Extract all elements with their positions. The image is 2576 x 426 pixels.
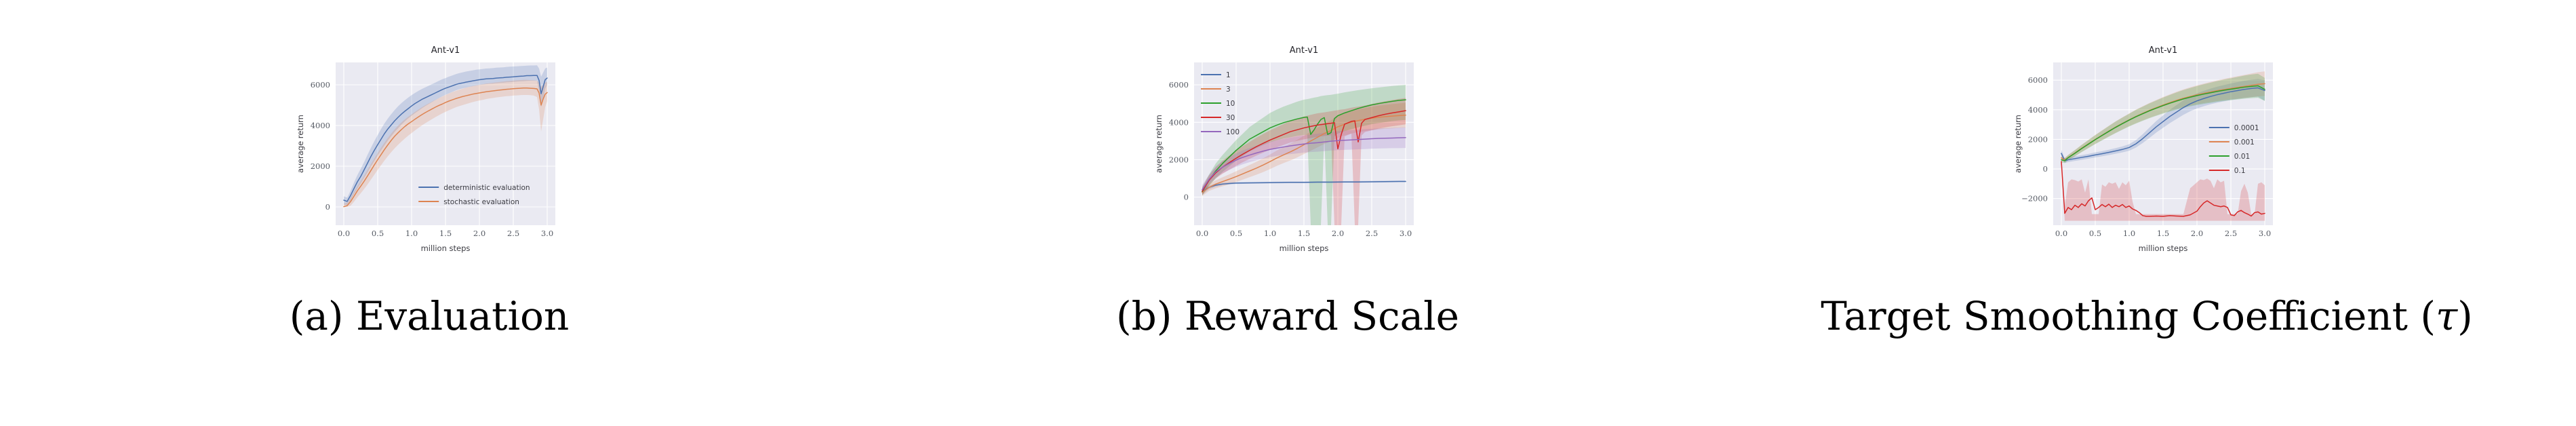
chart-title: Ant-v1 (431, 45, 460, 56)
x-tick-label: 3.0 (541, 229, 553, 238)
caption-b: (b) Reward Scale (858, 296, 1717, 337)
chart-holder-b: Ant-v10.00.51.01.52.02.53.00200040006000… (858, 41, 1717, 265)
x-tick-label: 1.0 (2123, 229, 2135, 238)
x-axis-label: million steps (1280, 244, 1329, 253)
caption-a: (a) Evaluation (0, 296, 858, 337)
y-tick-label: 0 (325, 202, 330, 212)
x-tick-label: 0.5 (2089, 229, 2101, 238)
figure-panel-b: Ant-v10.00.51.01.52.02.53.00200040006000… (858, 0, 1717, 426)
legend-label: 0.001 (2234, 138, 2255, 147)
legend-label: deterministic evaluation (443, 184, 530, 192)
y-tick-label: 6000 (1169, 80, 1189, 90)
line-chart: Ant-v10.00.51.01.52.02.53.0−200002000400… (2011, 41, 2282, 256)
y-tick-label: 4000 (311, 121, 330, 130)
x-axis-label: million steps (421, 244, 471, 253)
y-tick-label: 0 (1184, 193, 1189, 202)
x-tick-label: 2.0 (1332, 229, 1344, 238)
x-tick-label: 3.0 (1400, 229, 1412, 238)
y-tick-label: 6000 (311, 80, 330, 90)
x-tick-label: 1.5 (2157, 229, 2169, 238)
legend-label: 10 (1226, 100, 1235, 108)
figure-panel-row: Ant-v10.00.51.01.52.02.53.00200040006000… (0, 0, 2576, 426)
y-tick-label: −2000 (2021, 194, 2048, 204)
line-chart: Ant-v10.00.51.01.52.02.53.00200040006000… (1152, 41, 1423, 256)
x-tick-label: 1.0 (405, 229, 418, 238)
y-axis-label: average return (1154, 115, 1164, 173)
chart-holder-c: Ant-v10.00.51.01.52.02.53.0−200002000400… (1718, 41, 2576, 265)
x-tick-label: 2.5 (2225, 229, 2237, 238)
caption-c-text: Target Smoothing Coefficient ( (1821, 293, 2436, 339)
x-tick-label: 0.0 (1196, 229, 1208, 238)
legend-label: 30 (1226, 114, 1235, 122)
x-tick-label: 2.0 (473, 229, 486, 238)
y-tick-label: 6000 (2028, 75, 2048, 85)
y-axis-label: average return (296, 115, 305, 173)
y-tick-label: 2000 (2028, 134, 2048, 144)
x-tick-label: 3.0 (2259, 229, 2271, 238)
legend-label: 0.1 (2234, 167, 2246, 175)
x-axis-label: million steps (2139, 244, 2188, 253)
figure-panel-c: Ant-v10.00.51.01.52.02.53.0−200002000400… (1718, 0, 2576, 426)
legend-label: 0.01 (2234, 153, 2250, 161)
x-tick-label: 0.5 (372, 229, 384, 238)
legend-label: 3 (1226, 85, 1231, 94)
line-chart: Ant-v10.00.51.01.52.02.53.00200040006000… (294, 41, 565, 256)
x-tick-label: 2.0 (2191, 229, 2203, 238)
x-tick-label: 1.5 (1298, 229, 1310, 238)
y-tick-label: 2000 (1169, 155, 1189, 164)
x-tick-label: 0.5 (1230, 229, 1242, 238)
x-tick-label: 1.5 (439, 229, 452, 238)
x-tick-label: 2.5 (507, 229, 519, 238)
chart-a: Ant-v10.00.51.01.52.02.53.00200040006000… (294, 41, 565, 256)
x-tick-label: 2.5 (1366, 229, 1378, 238)
tau-symbol: τ (2436, 293, 2457, 339)
figure-panel-a: Ant-v10.00.51.01.52.02.53.00200040006000… (0, 0, 858, 426)
caption-c: Target Smoothing Coefficient (τ) (1718, 296, 2576, 337)
chart-c: Ant-v10.00.51.01.52.02.53.0−200002000400… (2011, 41, 2282, 256)
y-tick-label: 4000 (2028, 105, 2048, 115)
legend-label: 1 (1226, 71, 1231, 79)
caption-c-suffix: ) (2457, 293, 2473, 339)
chart-title: Ant-v1 (1290, 45, 1319, 56)
y-tick-label: 4000 (1169, 117, 1189, 127)
legend-label: 100 (1226, 128, 1240, 136)
x-tick-label: 1.0 (1264, 229, 1276, 238)
chart-holder-a: Ant-v10.00.51.01.52.02.53.00200040006000… (0, 41, 858, 265)
y-tick-label: 0 (2043, 164, 2048, 174)
y-tick-label: 2000 (311, 161, 330, 171)
y-axis-label: average return (2013, 115, 2023, 173)
chart-b: Ant-v10.00.51.01.52.02.53.00200040006000… (1152, 41, 1423, 256)
x-tick-label: 0.0 (338, 229, 350, 238)
chart-title: Ant-v1 (2149, 45, 2178, 56)
legend-label: stochastic evaluation (443, 198, 519, 206)
legend-label: 0.0001 (2234, 124, 2259, 132)
x-tick-label: 0.0 (2055, 229, 2067, 238)
